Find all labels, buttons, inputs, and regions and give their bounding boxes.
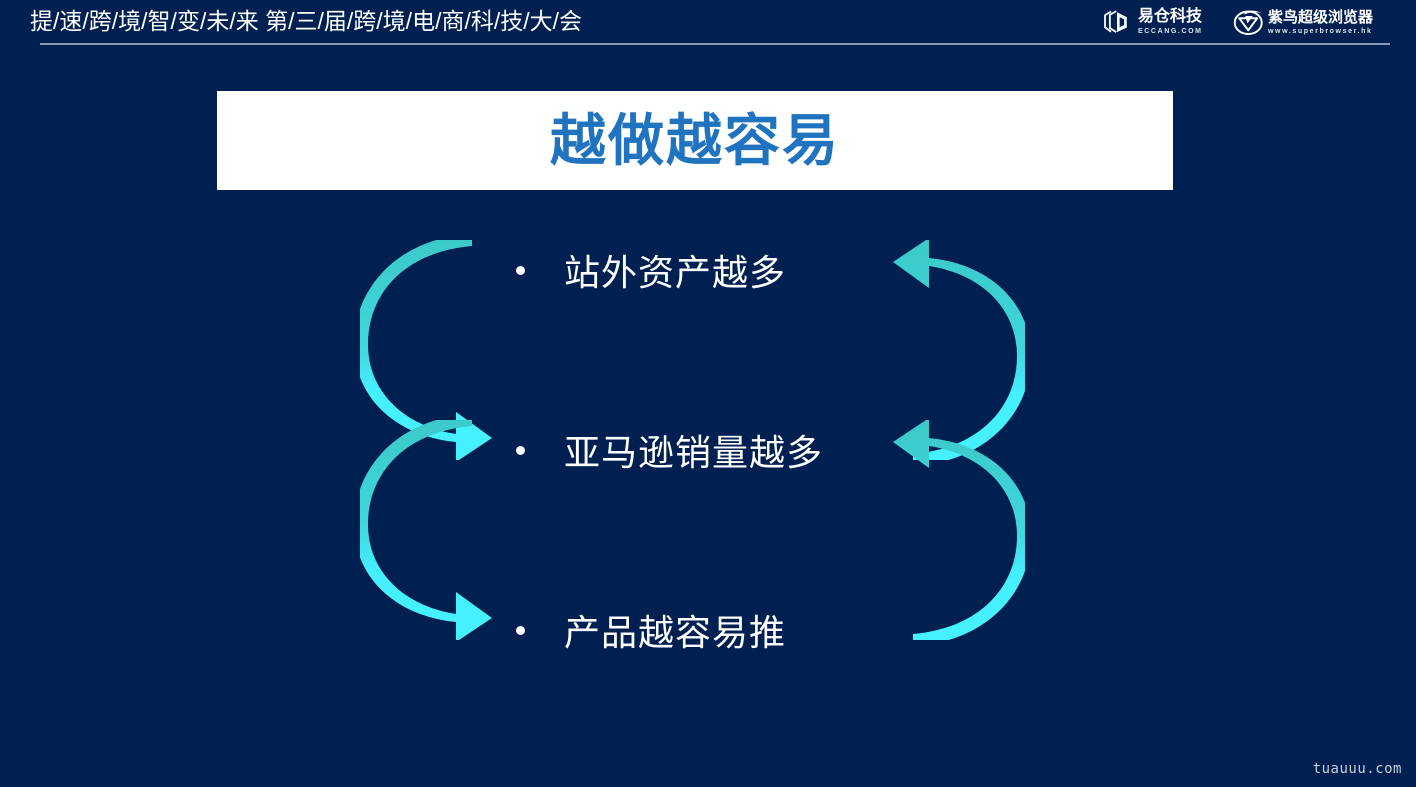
bullet-dot-icon bbox=[516, 626, 525, 635]
logo-superbrowser-text: 紫鸟超级浏览器 www.superbrowser.hk bbox=[1268, 10, 1373, 35]
logo-eccang-cn: 易仓科技 bbox=[1138, 9, 1203, 25]
slide-header: 提/速/跨/境/智/变/未/来 第/三/届/跨/境/电/商/科/技/大/会 易仓… bbox=[0, 0, 1416, 46]
list-item: 亚马逊销量越多 bbox=[516, 424, 823, 476]
bullet-label: 站外资产越多 bbox=[564, 244, 786, 296]
list-item: 站外资产越多 bbox=[516, 244, 786, 296]
logo-eccang: 易仓科技 ECCANG.COM bbox=[1102, 5, 1203, 39]
event-title: 提/速/跨/境/智/变/未/来 第/三/届/跨/境/电/商/科/技/大/会 bbox=[30, 6, 582, 36]
right-arrow-bottom bbox=[885, 420, 1025, 640]
bullet-dot-icon bbox=[516, 446, 525, 455]
logo-superbrowser-cn: 紫鸟超级浏览器 bbox=[1268, 10, 1373, 25]
logo-eccang-text: 易仓科技 ECCANG.COM bbox=[1138, 9, 1203, 35]
title-banner: 越做越容易 bbox=[217, 91, 1173, 190]
logo-eccang-en: ECCANG.COM bbox=[1138, 28, 1203, 35]
logo-superbrowser-en: www.superbrowser.hk bbox=[1268, 28, 1373, 35]
bullet-dot-icon bbox=[516, 266, 525, 275]
left-arrow-bottom bbox=[360, 420, 500, 640]
browser-swoosh-icon bbox=[1232, 7, 1262, 37]
bullet-label: 产品越容易推 bbox=[564, 604, 786, 656]
bullet-label: 亚马逊销量越多 bbox=[564, 424, 823, 476]
cube-outline-icon bbox=[1102, 7, 1132, 37]
list-item: 产品越容易推 bbox=[516, 604, 786, 656]
logo-superbrowser: 紫鸟超级浏览器 www.superbrowser.hk bbox=[1232, 5, 1373, 39]
slide-title: 越做越容易 bbox=[550, 96, 840, 177]
watermark: tuauuu.com bbox=[1313, 761, 1402, 777]
header-divider bbox=[40, 43, 1390, 45]
presentation-slide: 提/速/跨/境/智/变/未/来 第/三/届/跨/境/电/商/科/技/大/会 易仓… bbox=[0, 0, 1416, 787]
